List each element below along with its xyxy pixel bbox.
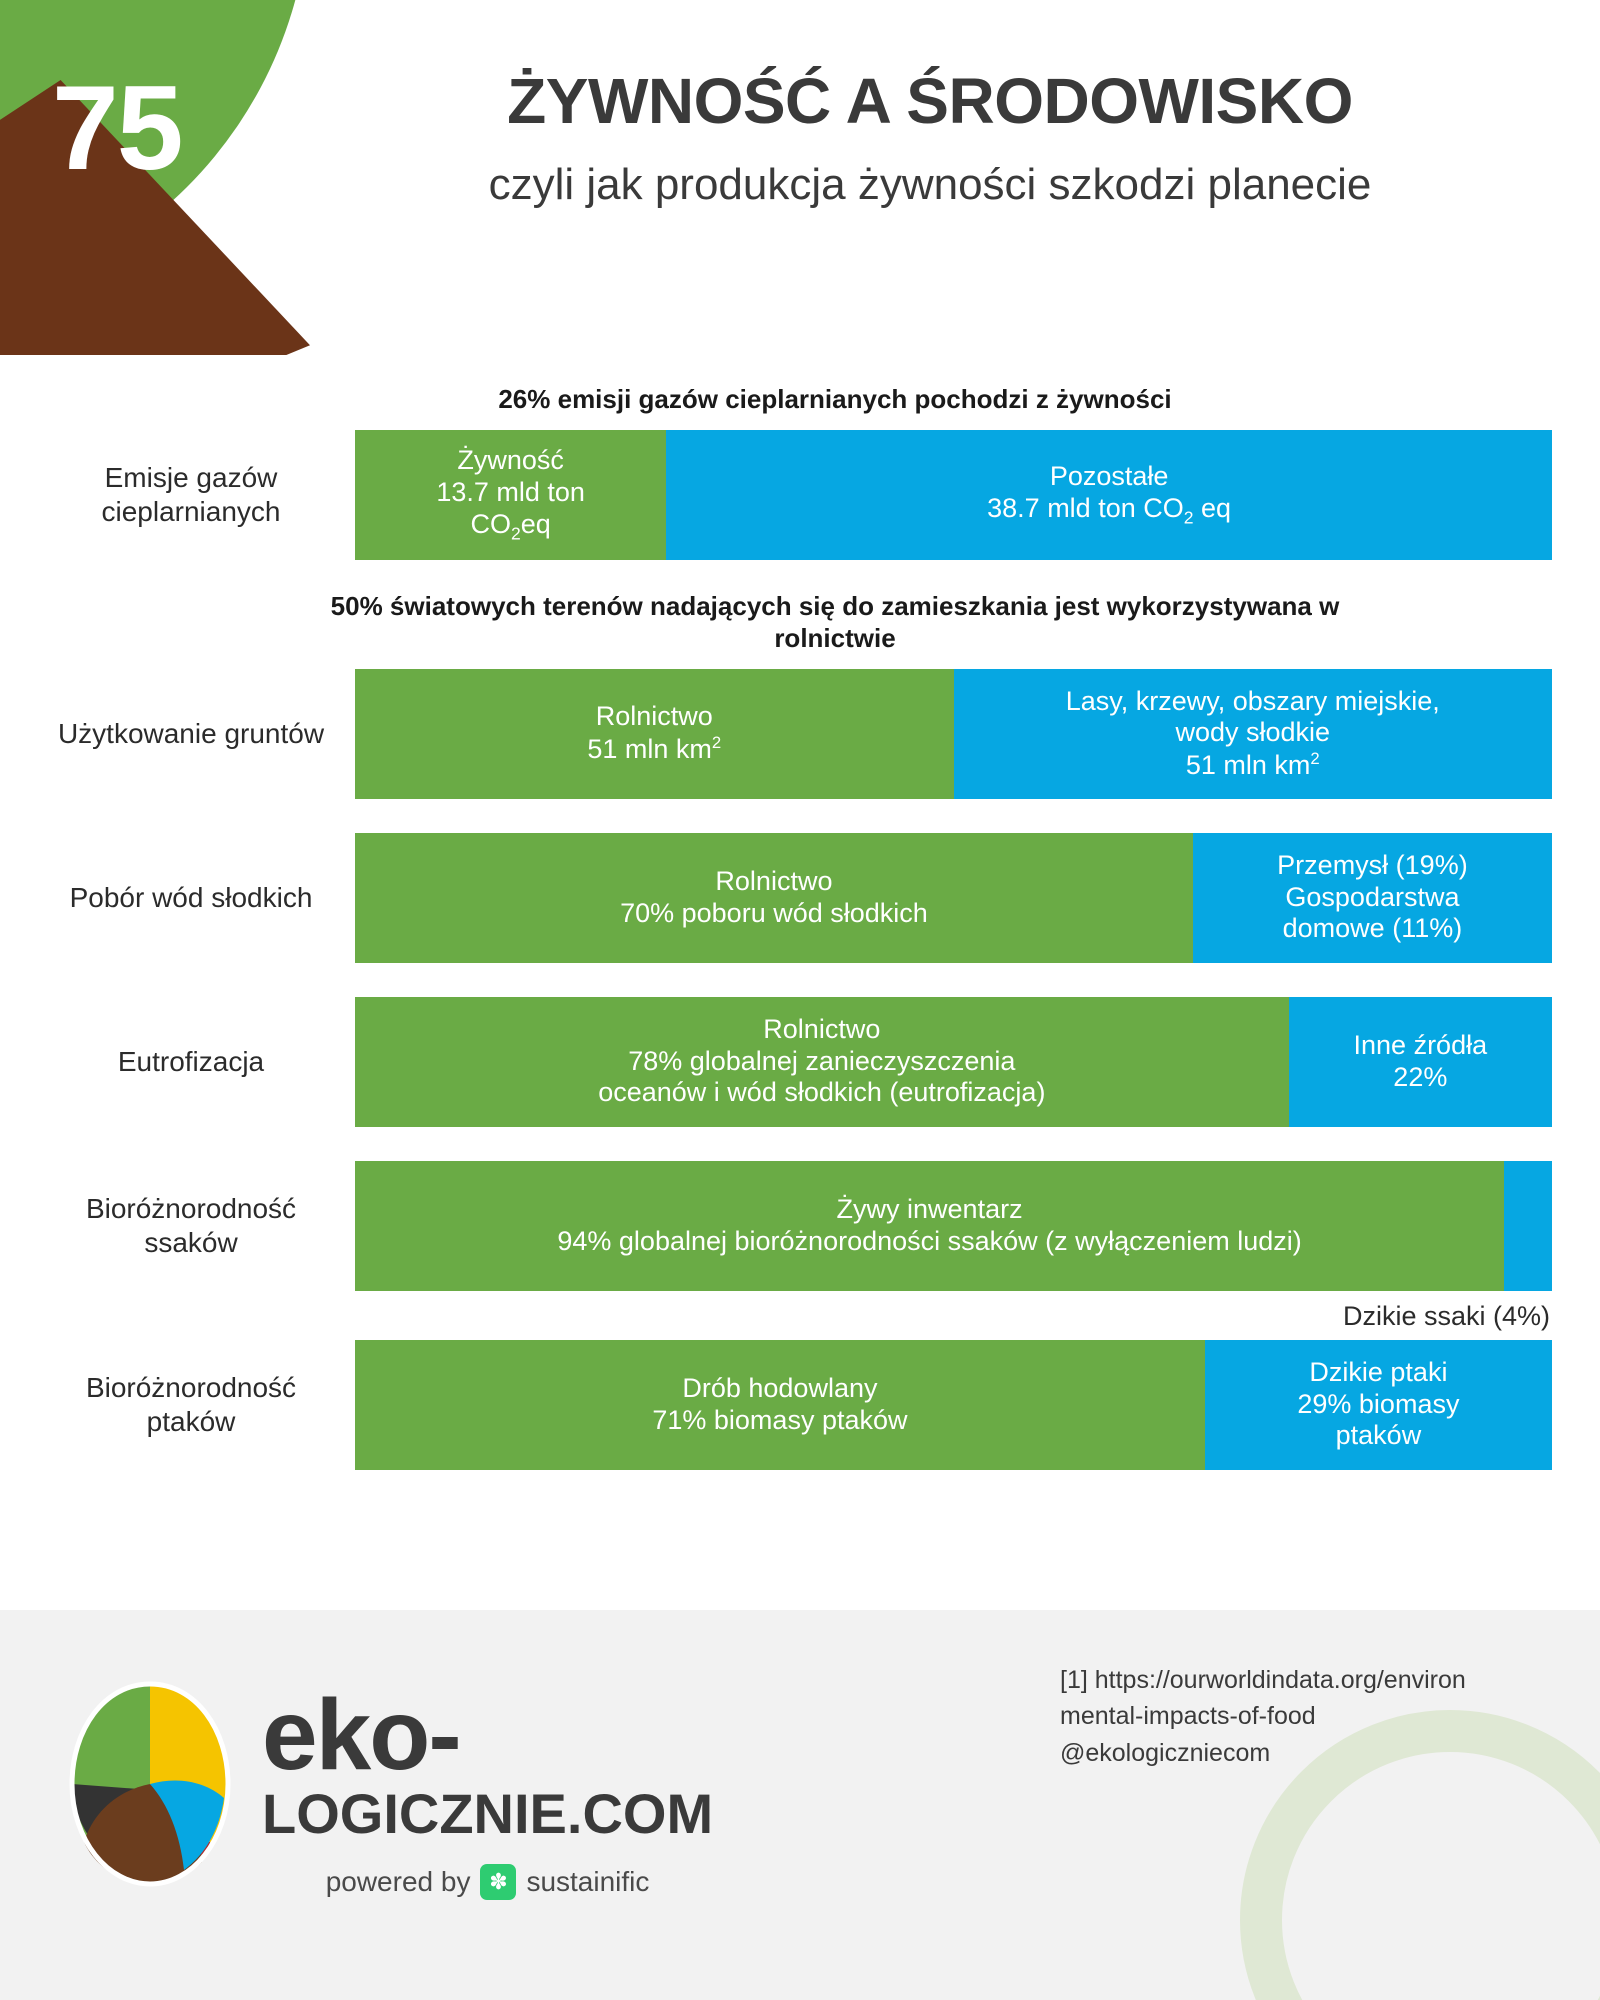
bar-segment-line: Dzikie ptaki — [1309, 1357, 1447, 1389]
bar-row: Emisje gazów cieplarnianychŻywność13.7 m… — [0, 430, 1600, 560]
bar-segment-line: 51 mln km2 — [587, 733, 721, 766]
row-spacer — [0, 1332, 1600, 1340]
bar-segment-line: Żywność — [457, 445, 564, 477]
bar-segment-line: 78% globalnej zanieczyszczenia — [628, 1046, 1015, 1078]
brand-logo[interactable]: eko- LOGICZNIE.COM powered by ✽ sustaini… — [60, 1672, 713, 1900]
bar-segment-line: wody słodkie — [1175, 717, 1330, 749]
bar-segment-line: Pozostałe — [1050, 461, 1169, 493]
bar-row: EutrofizacjaRolnictwo78% globalnej zanie… — [0, 997, 1600, 1127]
bar-segment-green: Rolnictwo78% globalnej zanieczyszczeniao… — [355, 997, 1289, 1127]
bar-segment-green: Drób hodowlany71% biomasy ptaków — [355, 1340, 1205, 1470]
bar-segment-blue — [1504, 1161, 1552, 1291]
leaf-icon: ✽ — [480, 1864, 516, 1900]
row-spacer — [0, 963, 1600, 997]
bar-segment-green: Żywy inwentarz94% globalnej bioróżnorodn… — [355, 1161, 1504, 1291]
source-citation: [1] https://ourworldindata.org/environme… — [1060, 1662, 1570, 1771]
logo-sub-text: LOGICZNIE.COM — [262, 1786, 713, 1842]
page-subtitle: czyli jak produkcja żywności szkodzi pla… — [300, 161, 1560, 209]
bar-row-label: Eutrofizacja — [45, 1045, 355, 1079]
bar-segment-line: 51 mln km2 — [1186, 749, 1320, 782]
bar-segment-green: Rolnictwo70% poboru wód słodkich — [355, 833, 1193, 963]
page-header: 75 ŻYWNOŚĆ A ŚRODOWISKO czyli jak produk… — [0, 0, 1600, 355]
bar-segment-line: oceanów i wód słodkich (eutrofizacja) — [598, 1077, 1045, 1109]
bar-segment-line: 38.7 mld ton CO2 eq — [987, 493, 1231, 528]
bar-row-label: Użytkowanie gruntów — [45, 717, 355, 751]
bar-segment-blue: Lasy, krzewy, obszary miejskie,wody słod… — [954, 669, 1553, 799]
bar-segment-blue: Przemysł (19%)Gospodarstwadomowe (11%) — [1193, 833, 1552, 963]
bar-row: Pobór wód słodkichRolnictwo70% poboru wó… — [0, 833, 1600, 963]
bar-row-label: Emisje gazów cieplarnianych — [45, 461, 355, 528]
bar-segment-line: Drób hodowlany — [682, 1373, 877, 1405]
bar-segment-blue: Pozostałe38.7 mld ton CO2 eq — [666, 430, 1552, 560]
bar-segment-line: 13.7 mld ton — [436, 477, 585, 509]
bar-segment-blue: Dzikie ptaki29% biomasyptaków — [1205, 1340, 1552, 1470]
powered-by: powered by ✽ sustainific — [262, 1864, 713, 1900]
powered-by-label: powered by — [326, 1866, 471, 1898]
bar-segment-line: 22% — [1393, 1062, 1447, 1094]
bar-segment-blue: Inne źródła22% — [1289, 997, 1552, 1127]
bar-row: Bioróżnorodność ssakówŻywy inwentarz94% … — [0, 1161, 1600, 1291]
bar-row-label: Bioróżnorodność ssaków — [45, 1192, 355, 1259]
bar-segment-green: Żywność13.7 mld tonCO2eq — [355, 430, 666, 560]
bar-segment-line: Rolnictwo — [715, 866, 832, 898]
bar-row-caption: 26% emisji gazów cieplarnianych pochodzi… — [233, 383, 1368, 416]
bar-row-caption: 50% światowych terenów nadających się do… — [233, 590, 1368, 655]
powered-brand: sustainific — [526, 1866, 649, 1898]
bar-segment-line: ptaków — [1336, 1420, 1422, 1452]
bar-segment-line: 71% biomasy ptaków — [652, 1405, 907, 1437]
stacked-bar-chart: 26% emisji gazów cieplarnianych pochodzi… — [0, 383, 1600, 1470]
bar-row-label: Bioróżnorodność ptaków — [45, 1371, 355, 1438]
stacked-bar: Rolnictwo78% globalnej zanieczyszczeniao… — [355, 997, 1552, 1127]
row-spacer — [0, 799, 1600, 833]
stacked-bar: Żywność13.7 mld tonCO2eqPozostałe38.7 ml… — [355, 430, 1552, 560]
stacked-bar: Drób hodowlany71% biomasy ptakówDzikie p… — [355, 1340, 1552, 1470]
logo-mark-icon — [60, 1672, 240, 1887]
logo-wordmark: eko- LOGICZNIE.COM powered by ✽ sustaini… — [262, 1672, 713, 1900]
bar-segment-line: 29% biomasy — [1297, 1389, 1459, 1421]
source-line: [1] https://ourworldindata.org/environ — [1060, 1662, 1570, 1698]
bar-row: Użytkowanie gruntówRolnictwo51 mln km2La… — [0, 669, 1600, 799]
source-line: mental-impacts-of-food — [1060, 1698, 1570, 1734]
source-line: @ekologiczniecom — [1060, 1735, 1570, 1771]
issue-badge: 75 — [0, 0, 310, 355]
bar-segment-green: Rolnictwo51 mln km2 — [355, 669, 954, 799]
bar-segment-line: 94% globalnej bioróżnorodności ssaków (z… — [557, 1226, 1301, 1258]
page-footer: [1] https://ourworldindata.org/environme… — [0, 1610, 1600, 2000]
bar-segment-line: domowe (11%) — [1283, 913, 1463, 945]
stacked-bar: Żywy inwentarz94% globalnej bioróżnorodn… — [355, 1161, 1552, 1291]
stacked-bar: Rolnictwo70% poboru wód słodkichPrzemysł… — [355, 833, 1552, 963]
issue-number: 75 — [52, 68, 181, 188]
bar-segment-line: Lasy, krzewy, obszary miejskie, — [1066, 686, 1440, 718]
stacked-bar: Rolnictwo51 mln km2Lasy, krzewy, obszary… — [355, 669, 1552, 799]
bar-segment-line: Gospodarstwa — [1285, 882, 1459, 914]
bar-segment-line: Inne źródła — [1354, 1030, 1488, 1062]
page-title: ŻYWNOŚĆ A ŚRODOWISKO — [300, 68, 1560, 135]
bar-row: Bioróżnorodność ptakówDrób hodowlany71% … — [0, 1340, 1600, 1470]
logo-main-text: eko- — [262, 1690, 713, 1780]
bar-segment-line: Przemysł (19%) — [1277, 850, 1468, 882]
bar-segment-line: Rolnictwo — [763, 1014, 880, 1046]
bar-segment-line: 70% poboru wód słodkich — [620, 898, 928, 930]
bar-row-label: Pobór wód słodkich — [45, 881, 355, 915]
bar-segment-line: CO2eq — [470, 509, 550, 544]
title-block: ŻYWNOŚĆ A ŚRODOWISKO czyli jak produkcja… — [300, 68, 1560, 210]
bar-segment-line: Żywy inwentarz — [837, 1194, 1023, 1226]
bar-side-note: Dzikie ssaki (4%) — [0, 1301, 1600, 1332]
row-spacer — [0, 1127, 1600, 1161]
bar-segment-line: Rolnictwo — [596, 701, 713, 733]
